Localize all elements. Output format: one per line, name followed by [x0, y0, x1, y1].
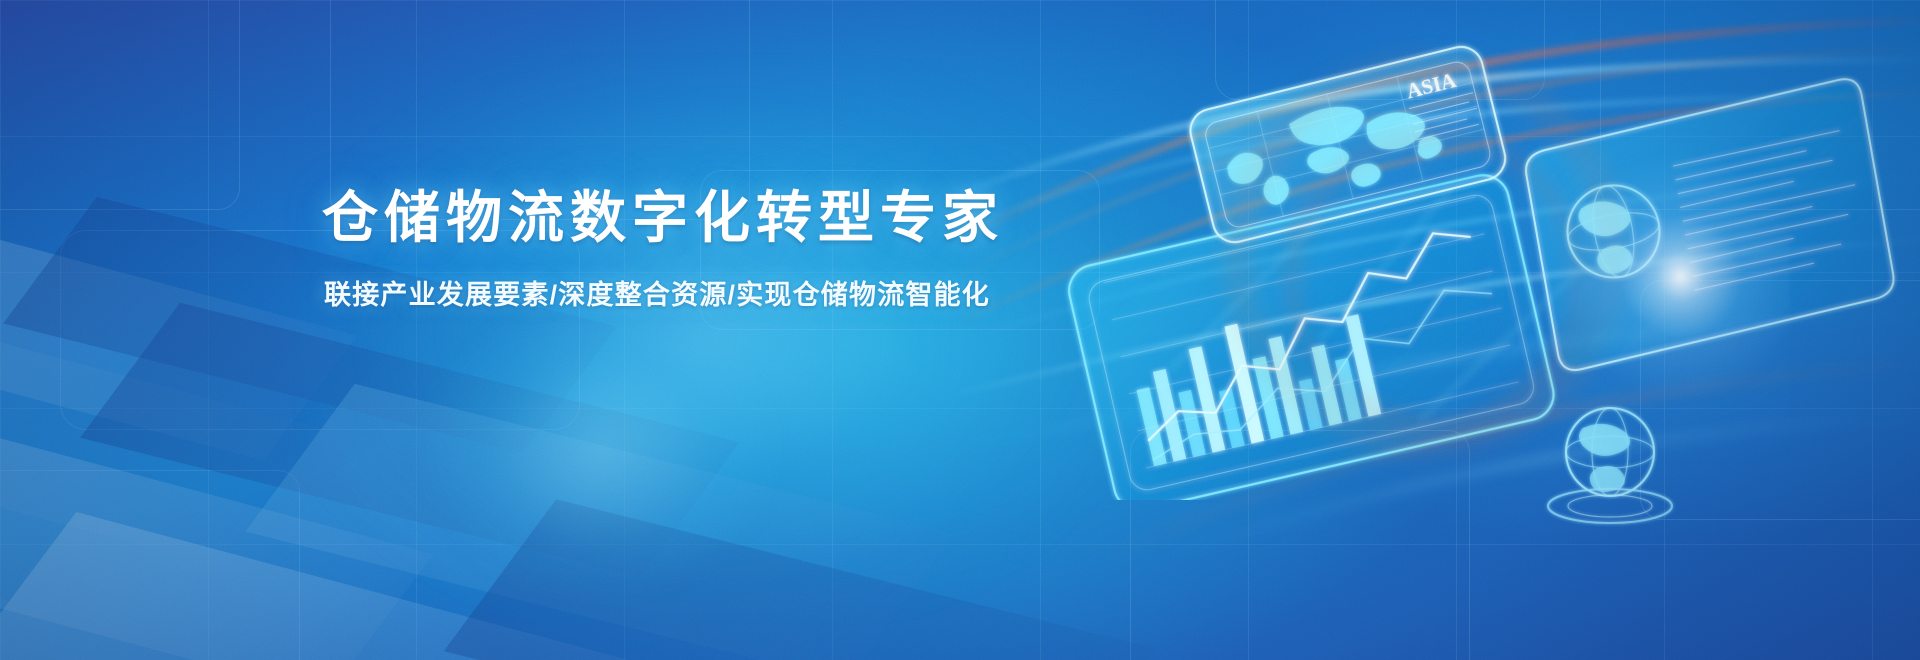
page-title: 仓储物流数字化转型专家: [322, 186, 1222, 250]
page-subtitle: 联接产业发展要素/深度整合资源/实现仓储物流智能化: [324, 278, 1222, 313]
hero-banner: ASIA: [0, 0, 1920, 660]
light-burst-icon: [1370, 120, 1790, 460]
background-frame: [0, 0, 240, 210]
center-glow-inner: [420, 300, 780, 600]
hero-copy: 仓储物流数字化转型专家 联接产业发展要素/深度整合资源/实现仓储物流智能化: [322, 186, 1222, 313]
